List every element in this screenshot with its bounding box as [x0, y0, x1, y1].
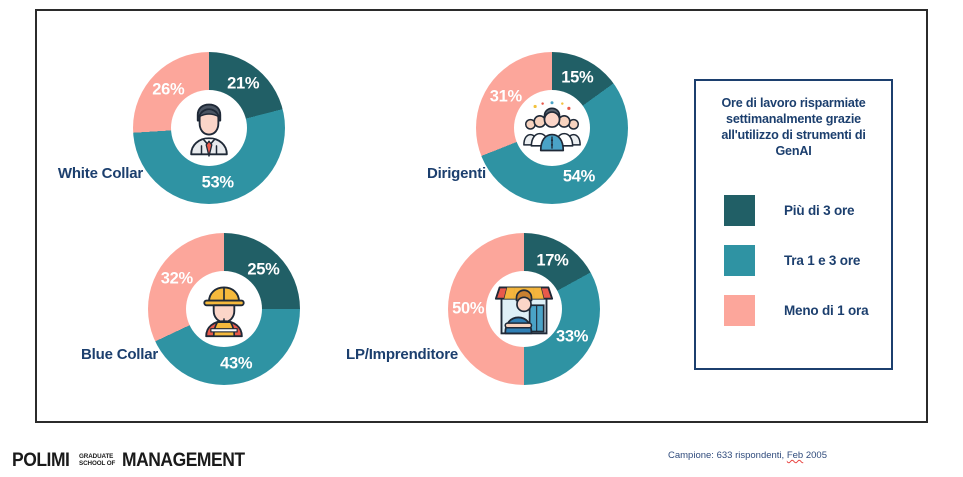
source-note-prefix: Campione: 633 rispondenti,: [668, 450, 787, 461]
polimi-school-of-management-logo: POLIMI GRADUATE SCHOOL OF MANAGEMENT: [12, 451, 255, 471]
legend-item-label: Tra 1 e 3 ore: [784, 253, 860, 268]
slice-percent-label: 17%: [536, 251, 568, 270]
chart-category-label: LP/Imprenditore: [346, 346, 458, 363]
slice-percent-label: 43%: [220, 354, 252, 373]
managers-group-icon: [522, 98, 582, 158]
legend-item: Tra 1 e 3 ore: [724, 243, 891, 277]
donut-center-hole: [514, 90, 590, 166]
logo-polimi-text: POLIMI: [12, 450, 69, 472]
legend-item-label: Più di 3 ore: [784, 203, 854, 218]
slice-percent-label: 31%: [490, 87, 522, 106]
construction-worker-icon: [194, 279, 254, 339]
source-note: Campione: 633 rispondenti, Feb 2005: [668, 450, 827, 461]
donut-chart-lp-imprenditore: 17%33%50% LP/Imprenditore: [340, 233, 600, 389]
office-worker-icon: [179, 98, 239, 158]
donut-ring-wrapper: 21%53%26%: [133, 52, 285, 204]
legend-item: Meno di 1 ora: [724, 293, 891, 327]
source-note-date-misspelled: Feb: [787, 450, 803, 461]
donut-center-hole: [171, 90, 247, 166]
slice-percent-label: 50%: [452, 300, 484, 319]
chart-category-label: White Collar: [58, 165, 143, 182]
slice-percent-label: 33%: [556, 328, 588, 347]
slice-percent-label: 26%: [152, 80, 184, 99]
chart-category-label: Dirigenti: [427, 165, 486, 182]
legend-title: Ore di lavoro risparmiate settimanalment…: [696, 95, 891, 159]
donut-center-hole: [186, 271, 262, 347]
legend-items-list: Più di 3 oreTra 1 e 3 oreMeno di 1 ora: [696, 193, 891, 327]
legend-item-label: Meno di 1 ora: [784, 303, 868, 318]
donut-chart-dirigenti: 15%54%31% Dirigenti: [368, 52, 628, 208]
legend-panel: Ore di lavoro risparmiate settimanalment…: [694, 79, 893, 370]
slice-percent-label: 25%: [247, 260, 279, 279]
donut-chart-blue-collar: 25%43%32% Blue Collar: [40, 233, 300, 389]
logo-school-of-text: SCHOOL OF: [79, 461, 115, 468]
donut-center-hole: [486, 271, 562, 347]
source-note-suffix: 2005: [803, 450, 827, 461]
legend-color-swatch: [724, 245, 755, 276]
legend-color-swatch: [724, 295, 755, 326]
donut-ring-wrapper: 15%54%31%: [476, 52, 628, 204]
chart-category-label: Blue Collar: [81, 346, 158, 363]
donut-chart-white-collar: 21%53%26% White Collar: [25, 52, 285, 208]
slice-percent-label: 21%: [227, 74, 259, 93]
legend-item: Più di 3 ore: [724, 193, 891, 227]
slice-percent-label: 32%: [161, 270, 193, 289]
shopkeeper-store-icon: [494, 279, 554, 339]
logo-management-text: MANAGEMENT: [122, 450, 245, 472]
logo-graduate-school-of-stack: GRADUATE SCHOOL OF: [79, 454, 117, 467]
slice-percent-label: 15%: [561, 69, 593, 88]
legend-color-swatch: [724, 195, 755, 226]
slice-percent-label: 53%: [202, 174, 234, 193]
donut-ring-wrapper: 17%33%50%: [448, 233, 600, 385]
donut-ring-wrapper: 25%43%32%: [148, 233, 300, 385]
slice-percent-label: 54%: [563, 167, 595, 186]
